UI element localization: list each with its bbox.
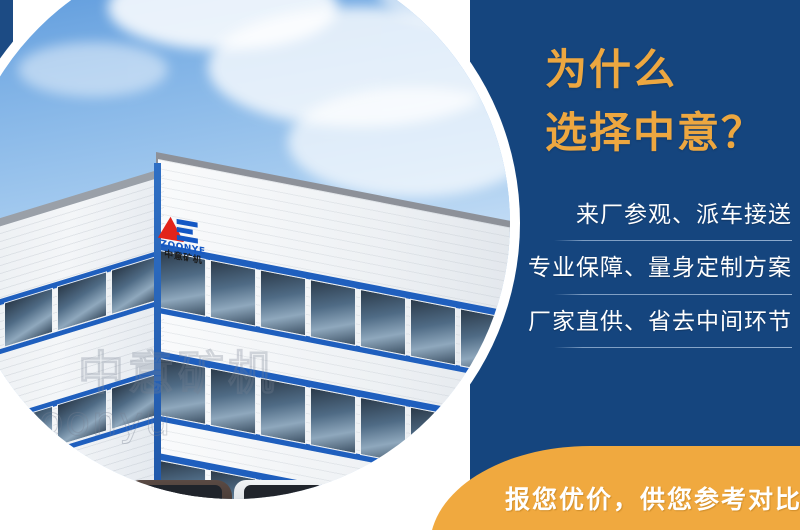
car	[128, 480, 232, 499]
parking-lot	[108, 452, 510, 499]
car-window	[346, 485, 429, 499]
letter-e-icon	[177, 219, 198, 244]
car-window	[452, 485, 510, 499]
photo-watermark-chinese: 中意矿机	[78, 337, 278, 403]
car	[442, 480, 510, 499]
feature-item-2: 专业保障、量身定制方案	[520, 241, 800, 293]
car-window	[138, 485, 221, 499]
car-window	[244, 485, 324, 499]
feature-item-3: 厂家直供、省去中间环节	[520, 295, 800, 347]
factory-photo: ZOONYE 中意矿机	[0, 0, 510, 499]
photo-watermark-latin: zoonyu	[16, 399, 172, 445]
car	[234, 480, 334, 499]
feature-list: 来厂参观、派车接送 专业保障、量身定制方案 厂家直供、省去中间环节	[520, 196, 800, 348]
headline: 为什么 选择中意？	[545, 38, 765, 164]
headline-line-1: 为什么	[545, 45, 677, 94]
photo-inner-frame: ZOONYE 中意矿机	[0, 0, 510, 499]
car	[336, 480, 440, 499]
feature-divider	[554, 347, 792, 348]
photo-circle-ring: ZOONYE 中意矿机	[0, 0, 520, 509]
promo-banner-canvas: ZOONYE 中意矿机	[0, 0, 800, 530]
feature-item-1: 来厂参观、派车接送	[520, 196, 800, 240]
headline-line-2: 选择中意？	[545, 101, 765, 164]
